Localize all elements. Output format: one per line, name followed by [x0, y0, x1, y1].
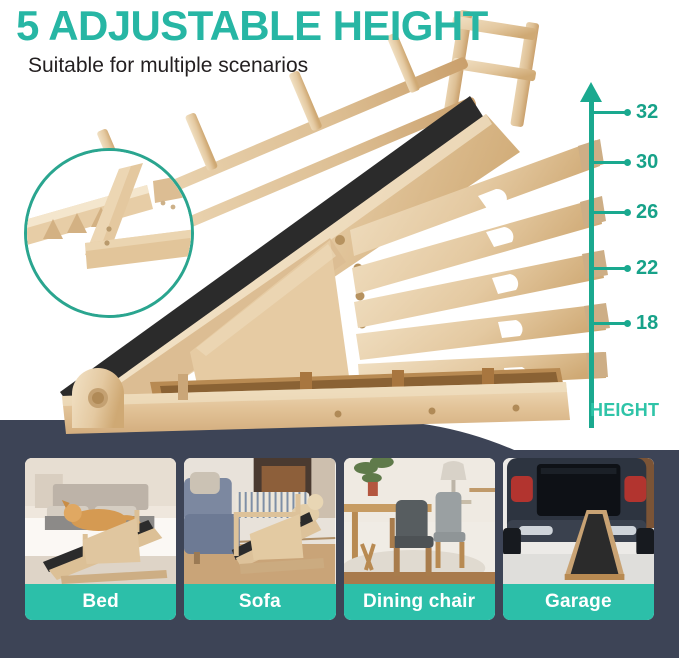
card-photo-bed	[25, 458, 176, 584]
axis-line	[589, 98, 594, 428]
scale-tick-dot-32	[624, 109, 631, 116]
notched-rail-detail-icon	[27, 151, 191, 315]
card-label-garage: Garage	[503, 584, 654, 620]
scale-label: HEIGHT	[590, 400, 659, 421]
card-label-bed: Bed	[25, 584, 176, 620]
scenario-card-sofa[interactable]: Sofa	[184, 458, 335, 620]
scale-tick-dot-26	[624, 209, 631, 216]
card-photo-dining-chair	[344, 458, 495, 584]
scale-tick-dot-30	[624, 159, 631, 166]
scenario-cards: Bed	[0, 458, 679, 628]
scale-tick-label-18: 18	[636, 313, 658, 333]
card-photo-sofa	[184, 458, 335, 584]
bed-scene-illustration	[25, 458, 176, 584]
card-photo-garage	[503, 458, 654, 584]
detail-closeup-circle	[24, 148, 194, 318]
scale-tick-label-22: 22	[636, 258, 658, 278]
pivot-hub	[72, 368, 124, 428]
scale-tick-line-18	[592, 322, 626, 325]
scale-tick-line-22	[592, 267, 626, 270]
infographic-root: 5 ADJUSTABLE HEIGHT Suitable for multipl…	[0, 0, 679, 658]
scale-tick-line-26	[592, 211, 626, 214]
scale-tick-label-30: 30	[636, 152, 658, 172]
scenario-card-dining-chair[interactable]: Dining chair	[344, 458, 495, 620]
scenario-card-bed[interactable]: Bed	[25, 458, 176, 620]
scale-tick-dot-22	[624, 265, 631, 272]
sofa-scene-illustration	[184, 458, 335, 584]
height-scale: 3230262218 HEIGHT	[570, 80, 679, 440]
scenario-card-garage[interactable]: Garage	[503, 458, 654, 620]
scale-tick-dot-18	[624, 320, 631, 327]
garage-scene-illustration	[503, 458, 654, 584]
scale-tick-line-32	[592, 111, 626, 114]
scale-tick-line-30	[592, 161, 626, 164]
scale-tick-label-32: 32	[636, 102, 658, 122]
card-label-dining-chair: Dining chair	[344, 584, 495, 620]
page-subtitle: Suitable for multiple scenarios	[28, 54, 308, 78]
card-label-sofa: Sofa	[184, 584, 335, 620]
page-title: 5 ADJUSTABLE HEIGHT	[16, 2, 488, 50]
scale-tick-label-26: 26	[636, 202, 658, 222]
dining-chair-scene-illustration	[344, 458, 495, 584]
